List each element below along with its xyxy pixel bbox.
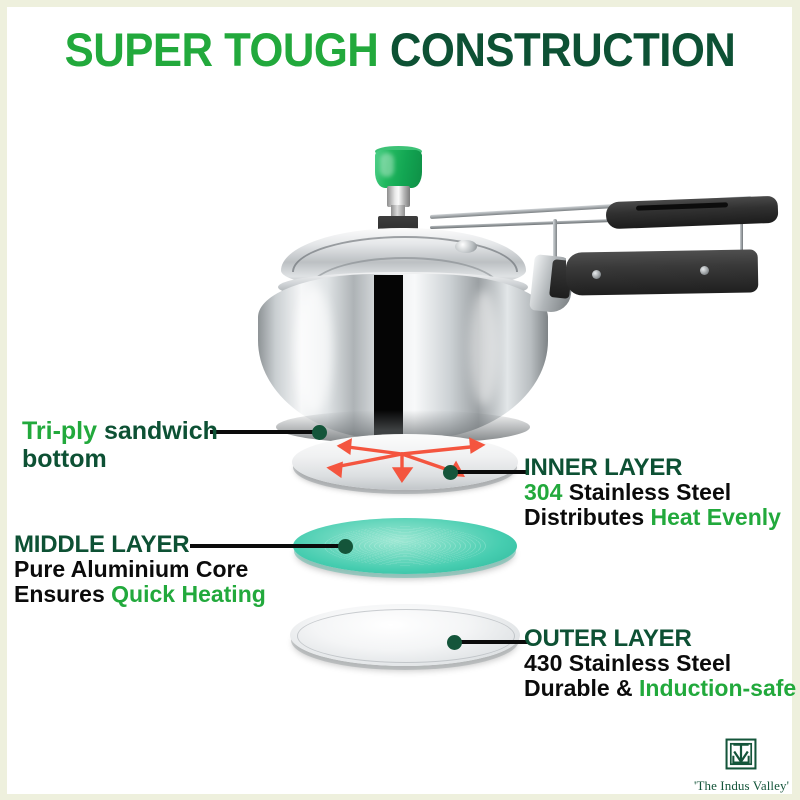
callout-middle-line-2: Ensures Quick Heating <box>14 582 266 606</box>
callout-triply-emph: Tri-ply <box>22 417 97 445</box>
leader-dot-middle <box>338 539 353 554</box>
callout-outer-benefit-pre: Durable & <box>524 675 639 701</box>
pressure-regulator-knob <box>375 150 422 188</box>
handle-screw-left <box>592 270 601 279</box>
callout-inner-heading: INNER LAYER <box>524 455 781 480</box>
body-highlight-left <box>296 286 332 414</box>
callout-triply-rest: sandwich <box>97 417 218 445</box>
regulator-stem-upper <box>387 186 410 207</box>
callout-inner-layer: INNER LAYER 304 Stainless Steel Distribu… <box>524 455 781 529</box>
indus-valley-emblem-icon <box>724 737 758 771</box>
leader-line-inner <box>452 470 526 474</box>
body-highlight-right <box>470 290 498 406</box>
callout-middle-line-1: Pure Aluminium Core <box>14 557 266 581</box>
pressure-cooker-illustration <box>0 0 800 470</box>
brand-name: 'The Indus Valley' <box>694 778 788 794</box>
infographic-canvas: SUPER TOUGH CONSTRUCTION <box>0 0 800 800</box>
callout-outer-layer: OUTER LAYER 430 Stainless Steel Durable … <box>524 626 796 700</box>
leader-dot-triply <box>312 425 327 440</box>
callout-inner-line-1: 304 Stainless Steel <box>524 480 781 504</box>
callout-inner-line-2: Distributes Heat Evenly <box>524 505 781 529</box>
callout-outer-line-2: Durable & Induction-safe <box>524 676 796 700</box>
callout-triply: Tri-ply sandwich bottom <box>22 417 218 473</box>
callout-inner-benefit-emph: Heat Evenly <box>651 504 781 530</box>
leader-dot-outer <box>447 635 462 650</box>
callout-outer-line-1: 430 Stainless Steel <box>524 651 796 675</box>
handle-screw-right <box>700 266 709 275</box>
callout-outer-heading: OUTER LAYER <box>524 626 796 651</box>
lid-handle <box>606 196 779 230</box>
callout-inner-grade: 304 <box>524 479 562 505</box>
callout-middle-layer: MIDDLE LAYER Pure Aluminium Core Ensures… <box>14 532 266 606</box>
callout-triply-line-1: Tri-ply sandwich <box>22 417 218 445</box>
leader-line-triply <box>210 430 318 434</box>
heat-distribution-arrows <box>292 432 518 492</box>
safety-valve-icon <box>455 240 477 253</box>
callout-triply-line-2: bottom <box>22 445 218 473</box>
callout-middle-heading: MIDDLE LAYER <box>14 532 266 557</box>
border-bottom <box>0 794 800 800</box>
brand-logo: 'The Indus Valley' <box>694 737 788 791</box>
callout-inner-material: Stainless Steel <box>562 479 731 505</box>
callout-outer-benefit-emph: Induction-safe <box>639 675 796 701</box>
leader-dot-inner <box>443 465 458 480</box>
callout-middle-benefit-pre: Ensures <box>14 581 111 607</box>
outer-disc-rim <box>297 609 515 663</box>
leader-line-outer <box>456 640 528 644</box>
callout-middle-benefit-emph: Quick Heating <box>111 581 266 607</box>
callout-inner-benefit-pre: Distributes <box>524 504 651 530</box>
